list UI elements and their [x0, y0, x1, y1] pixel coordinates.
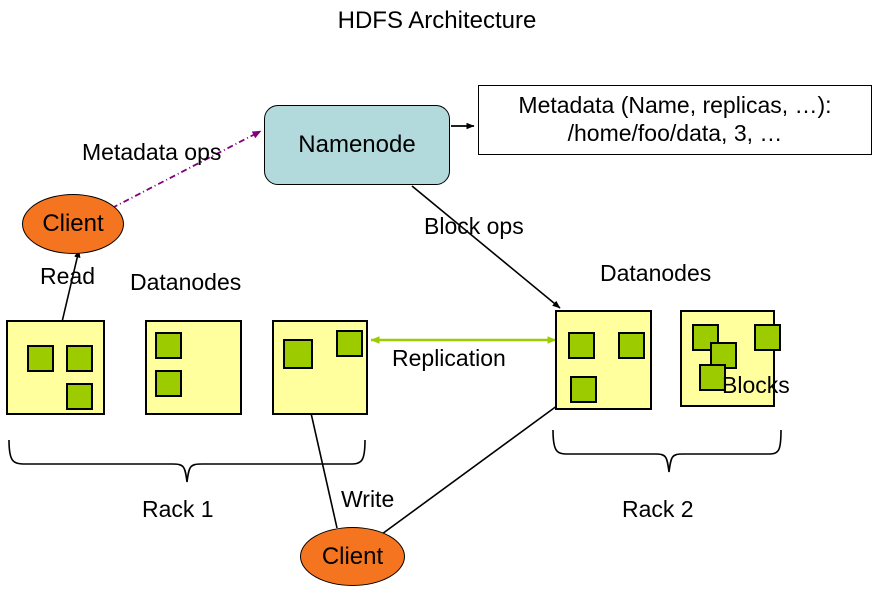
- block: [570, 376, 597, 403]
- datanode-1[interactable]: [6, 320, 105, 415]
- block: [283, 339, 313, 369]
- block: [336, 330, 363, 357]
- label-rack-1: Rack 1: [142, 497, 214, 521]
- label-rack-2: Rack 2: [622, 497, 694, 521]
- client-top-label: Client: [42, 210, 103, 238]
- block: [66, 383, 93, 410]
- block: [66, 345, 93, 372]
- block: [618, 332, 645, 359]
- label-read: Read: [40, 264, 95, 288]
- datanode-2[interactable]: [145, 320, 242, 415]
- block: [27, 345, 54, 372]
- client-bottom-label: Client: [322, 543, 383, 571]
- namenode-label: Namenode: [298, 131, 415, 159]
- label-metadata-ops: Metadata ops: [82, 140, 221, 164]
- hdfs-architecture-diagram: HDFS Architecture: [0, 0, 874, 604]
- datanode-3[interactable]: [272, 320, 368, 415]
- arrow-write-to-datanode-4: [382, 400, 565, 534]
- client-top[interactable]: Client: [22, 194, 124, 254]
- label-datanodes-right: Datanodes: [600, 261, 711, 285]
- arrow-block-ops: [412, 186, 560, 308]
- block: [155, 370, 182, 397]
- block: [155, 332, 182, 359]
- client-bottom[interactable]: Client: [300, 527, 405, 586]
- metadata-line-2: /home/foo/data, 3, …: [568, 120, 783, 148]
- label-replication: Replication: [392, 346, 506, 370]
- label-datanodes-left: Datanodes: [130, 270, 241, 294]
- datanode-4[interactable]: [555, 310, 652, 410]
- label-write: Write: [341, 487, 394, 511]
- label-block-ops: Block ops: [424, 214, 524, 238]
- brace-rack-2: [553, 430, 781, 472]
- brace-rack-1: [9, 440, 365, 482]
- metadata-line-1: Metadata (Name, replicas, …):: [518, 92, 831, 120]
- block: [754, 324, 781, 351]
- block: [568, 332, 595, 359]
- label-blocks: Blocks: [722, 373, 790, 397]
- namenode-box[interactable]: Namenode: [264, 105, 450, 185]
- metadata-box: Metadata (Name, replicas, …): /home/foo/…: [478, 85, 872, 155]
- page-title: HDFS Architecture: [0, 8, 874, 33]
